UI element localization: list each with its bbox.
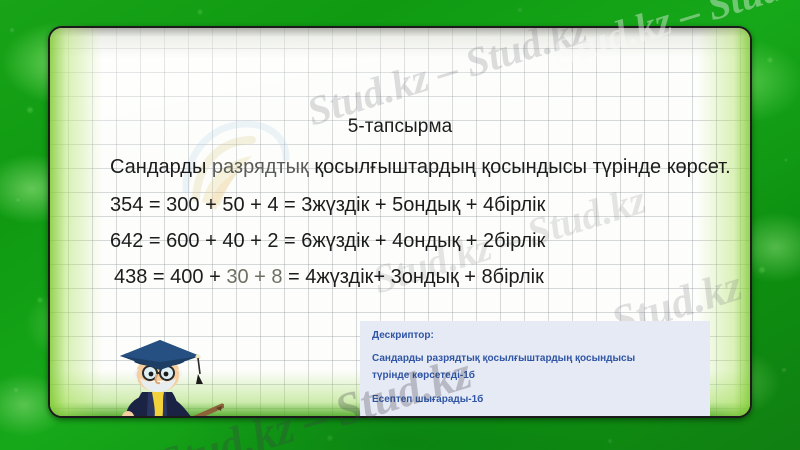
task-title: 5-тапсырма <box>50 116 750 138</box>
equation-3-lead: 438 = 400 + <box>114 266 226 288</box>
descriptor-heading: Дескриптор: <box>372 330 696 341</box>
equation-3-tail: = 4жүздік+ 3ондық + 8бірлік <box>283 266 544 288</box>
equation-3-faded: 30 + 8 <box>226 266 282 288</box>
equation-row-3: 438 = 400 + 30 + 8 = 4жүздік+ 3ондық + 8… <box>114 266 544 289</box>
slide-canvas: Stud.kz – Stud.kz Stud.kz – Stud.kz Stud… <box>0 0 800 450</box>
descriptor-box: Дескриптор: Сандарды разрядтық қосылғышт… <box>360 321 710 418</box>
equation-row-1: 354 = 300 + 50 + 4 = 3жүздік + 5ондық + … <box>110 194 545 217</box>
descriptor-spacer <box>372 384 696 392</box>
descriptor-line-3: Есептеп шығарады-1б <box>372 392 696 409</box>
equation-row-2: 642 = 600 + 40 + 2 = 6жүздік + 4ондық + … <box>110 230 545 253</box>
instruction-part-2: қосылғыштардың қосындысы түрінде көрсет. <box>309 156 731 178</box>
instruction-part-1: Сандарды <box>110 156 212 178</box>
notebook-page: Stud.kz – Stud.kz Stud.kz – Stud.kz Stud… <box>48 26 752 418</box>
instruction-line: Сандарды разрядтық қосылғыштардың қосынд… <box>110 156 731 179</box>
instruction-part-dim: разрядтық <box>212 156 309 178</box>
descriptor-line-2: түрінде көрсетеді-1б <box>372 368 696 385</box>
professor-character-icon <box>112 334 224 418</box>
descriptor-line-1: Сандарды разрядтық қосылғыштардың қосынд… <box>372 351 696 368</box>
